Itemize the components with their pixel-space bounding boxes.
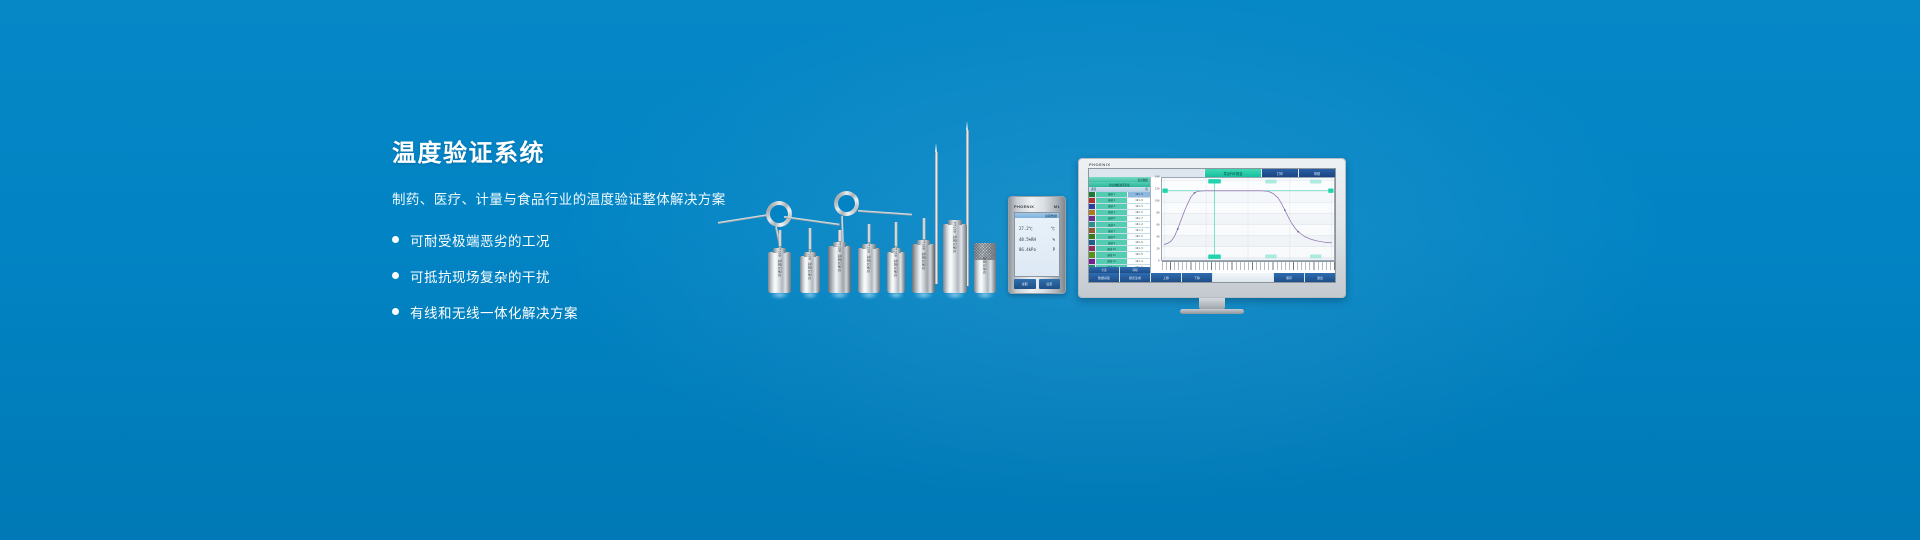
handheld-key-setup[interactable]: 设置	[1039, 279, 1061, 289]
channel-name: 通道 2	[1096, 198, 1127, 203]
logger-3: PT100 温度记录仪	[828, 246, 851, 293]
channel-table: 温度数据 验证数据通道列表 通道 值 通道 1121.4通道 2121.6通道 …	[1089, 177, 1151, 273]
channel-color-swatch	[1089, 198, 1095, 203]
channel-value: 121.4	[1128, 259, 1150, 264]
handheld-brand: PHOENIX	[1014, 204, 1034, 209]
channel-name: 通道 5	[1096, 216, 1127, 221]
channel-value: 121.2	[1128, 222, 1150, 227]
channel-color-swatch	[1089, 228, 1095, 233]
toolbar-spacer	[1089, 169, 1204, 177]
reading-unit: ℃	[1051, 226, 1055, 232]
reading-unit: %	[1053, 237, 1055, 242]
handheld-screen-title: 读取数据	[1045, 214, 1057, 218]
handheld-model: M1	[1054, 204, 1060, 209]
channel-color-swatch	[1089, 252, 1095, 257]
channel-name: 通道 7	[1096, 228, 1127, 233]
needle-probe-short	[935, 152, 938, 284]
handheld-brand-row: PHOENIX M1	[1014, 202, 1060, 210]
channel-name: 通道 11	[1096, 252, 1127, 257]
channel-name: 通道 9	[1096, 240, 1127, 245]
chart-plot-main: 020406080100120140	[1151, 177, 1335, 261]
channel-color-swatch	[1089, 234, 1095, 239]
monitor-base	[1180, 309, 1244, 314]
y-tick-label: 140	[1155, 176, 1160, 179]
y-tick-label: 100	[1155, 200, 1160, 203]
channel-color-swatch	[1089, 259, 1095, 264]
reading-value: 27.2℃	[1019, 226, 1033, 232]
chart-x-axis	[1151, 261, 1335, 273]
bullet-dot-icon	[392, 272, 399, 279]
reading-unit: P	[1053, 247, 1055, 252]
y-tick-label: 80	[1156, 212, 1159, 215]
handheld-readings: 27.2℃ ℃ 48.5%RH % 86.4kPa P	[1015, 218, 1059, 252]
channel-value: 121.5	[1128, 234, 1150, 239]
y-tick-label: 0	[1158, 260, 1160, 263]
channel-color-swatch	[1089, 240, 1095, 245]
reading-row: 27.2℃ ℃	[1019, 226, 1055, 232]
logger-7: PT100 温度记录仪	[943, 224, 967, 293]
logger-label: PT100 温度记录仪	[894, 245, 899, 276]
bullet-dot-icon	[392, 308, 399, 315]
monitor-screen: 导出PDF报告 打印 帮助 温度数据 验证数据通道列表 通道 值 通道 1121…	[1088, 168, 1336, 283]
handheld-screen: 读取数据 27.2℃ ℃ 48.5%RH % 86.4kPa P	[1014, 212, 1060, 277]
logger-label: PT100 温度记录仪	[808, 249, 813, 280]
channel-name: 通道 4	[1096, 210, 1127, 215]
logger-label: PT100 温度记录仪	[953, 222, 958, 253]
chart-x-ticks	[1162, 261, 1335, 270]
bottom-button-4	[1213, 273, 1273, 282]
logger-label: PT100 温度记录仪	[837, 240, 842, 271]
coil-ring-inner-icon	[768, 203, 790, 225]
bottom-button-3[interactable]: 下移	[1182, 273, 1212, 282]
bottom-button-2[interactable]: 上移	[1151, 273, 1181, 282]
hero-banner: 温度验证系统 制药、医疗、计量与食品行业的温度验证整体解决方案 可耐受极端恶劣的…	[0, 0, 1920, 540]
coil-ring-inner-icon	[836, 193, 857, 214]
channel-color-swatch	[1089, 216, 1095, 221]
logger-label: 湿度记录仪	[983, 257, 988, 275]
channel-value: 121.3	[1128, 204, 1150, 209]
app-toolbar-bottom: 数据采集报表生成上移下移保存退出	[1089, 273, 1335, 282]
handheld-key-read[interactable]: 读取	[1014, 279, 1036, 289]
y-tick-label: 120	[1155, 188, 1160, 191]
channel-value: 121.5	[1128, 210, 1150, 215]
channel-value: 121.6	[1128, 240, 1150, 245]
channel-value: 121.7	[1128, 216, 1150, 221]
logger-label: PT100 温度记录仪	[867, 242, 872, 273]
feature-text: 有线和无线一体化解决方案	[410, 302, 578, 322]
feature-text: 可抵抗现场复杂的干扰	[410, 266, 550, 286]
handheld-keypad: 读取 设置	[1014, 279, 1060, 289]
print-button[interactable]: 打印	[1262, 169, 1298, 177]
help-button[interactable]: 帮助	[1299, 169, 1335, 177]
bullet-dot-icon	[392, 236, 399, 243]
export-pdf-button[interactable]: 导出PDF报告	[1205, 169, 1261, 177]
handheld-reader[interactable]: PHOENIX M1 读取数据 27.2℃ ℃ 48.5%RH %	[1008, 196, 1066, 294]
channel-value: 121.4	[1128, 192, 1150, 197]
feature-text: 可耐受极端恶劣的工况	[410, 230, 550, 250]
channel-value: 121.6	[1128, 198, 1150, 203]
reading-value: 48.5%RH	[1019, 237, 1036, 242]
reading-value: 86.4kPa	[1019, 247, 1036, 252]
chart-panel: 020406080100120140	[1151, 177, 1335, 273]
probe-wire	[784, 216, 840, 225]
monitor-display: PHOENIX 导出PDF报告 打印 帮助 温度数据 验证数据通道列表 通道	[1078, 158, 1346, 298]
y-tick-label: 40	[1156, 236, 1159, 239]
channel-name: 通道 12	[1096, 259, 1127, 264]
logger-4: PT100 温度记录仪	[858, 248, 880, 293]
channel-name: 通道 3	[1096, 204, 1127, 209]
channel-color-swatch	[1089, 210, 1095, 215]
channel-name: 通道 8	[1096, 234, 1127, 239]
logger-label: PT100 温度记录仪	[777, 245, 782, 276]
monitor-brand: PHOENIX	[1089, 162, 1111, 167]
bottom-button-5[interactable]: 保存	[1274, 273, 1304, 282]
channel-value: 121.3	[1128, 246, 1150, 251]
app-toolbar-top: 导出PDF报告 打印 帮助	[1089, 169, 1335, 177]
chart-canvas[interactable]	[1162, 177, 1335, 261]
probe-wire-tail	[858, 210, 912, 215]
channel-color-swatch	[1089, 222, 1095, 227]
probe-wire	[718, 214, 770, 224]
logger-8-mesh: 湿度记录仪	[974, 243, 996, 293]
y-tick-label: 20	[1156, 248, 1159, 251]
y-tick-label: 60	[1156, 224, 1159, 227]
chart-svg	[1162, 178, 1334, 260]
bottom-button-0[interactable]: 数据采集	[1089, 273, 1119, 282]
logger-1: PT100 温度记录仪	[768, 252, 791, 293]
product-group: PT100 温度记录仪 PT100 温度记录仪 PT100 温度记录仪 PT10…	[700, 100, 1240, 330]
bottom-button-1[interactable]: 报表生成	[1120, 273, 1150, 282]
reading-row: 86.4kPa P	[1019, 247, 1055, 252]
channel-name: 通道 6	[1096, 222, 1127, 227]
channel-color-swatch	[1089, 192, 1095, 197]
logger-2: PT100 温度记录仪	[800, 256, 820, 293]
reading-row: 48.5%RH %	[1019, 237, 1055, 242]
channel-color-swatch	[1089, 204, 1095, 209]
logger-5: PT100 温度记录仪	[887, 252, 905, 293]
bottom-button-6[interactable]: 退出	[1305, 273, 1335, 282]
table-body[interactable]: 通道 1121.4通道 2121.6通道 3121.3通道 4121.5通道 5…	[1089, 192, 1150, 268]
logger-label: PT100 温度记录仪	[921, 239, 926, 270]
channel-name: 通道 1	[1096, 192, 1127, 197]
channel-color-swatch	[1089, 246, 1095, 251]
app-body: 温度数据 验证数据通道列表 通道 值 通道 1121.4通道 2121.6通道 …	[1089, 177, 1335, 273]
channel-value: 121.4	[1128, 228, 1150, 233]
channel-value: 121.5	[1128, 252, 1150, 257]
chart-y-axis: 020406080100120140	[1151, 177, 1162, 261]
channel-name: 通道 10	[1096, 246, 1127, 251]
logger-6: PT100 温度记录仪	[912, 244, 935, 293]
